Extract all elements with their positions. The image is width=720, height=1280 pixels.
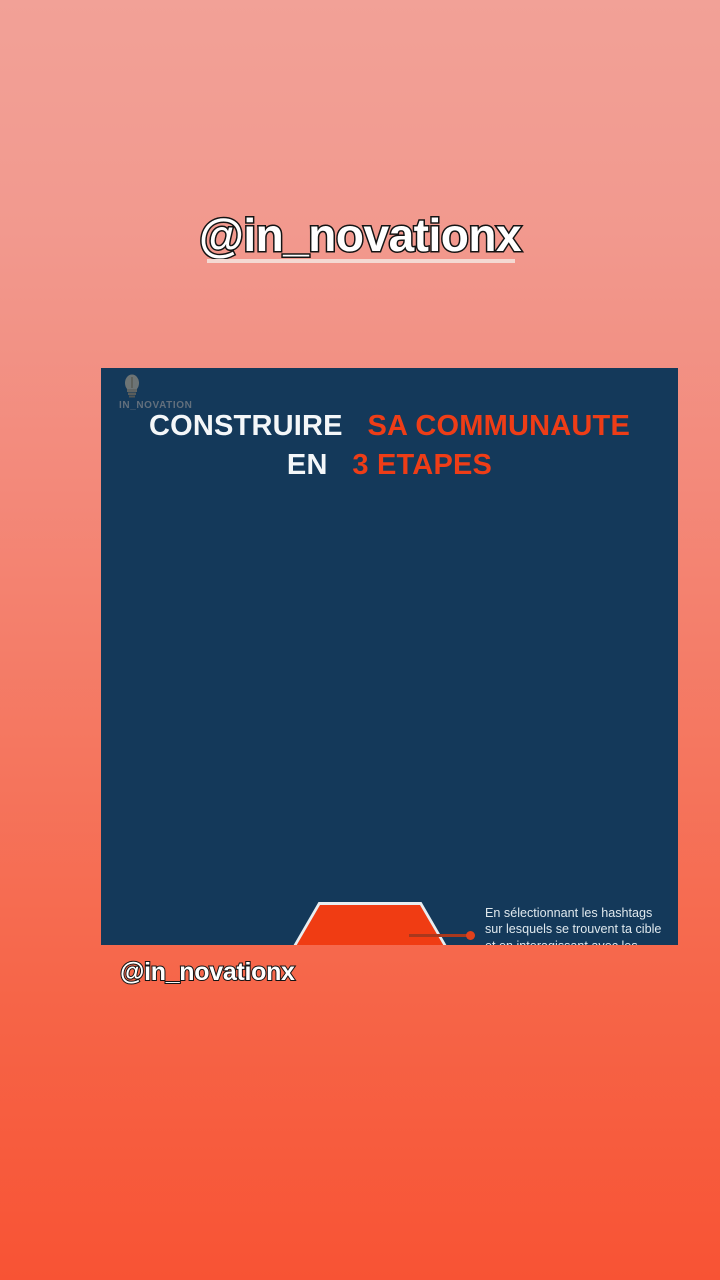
title-line-1: CONSTRUIRE SA COMMUNAUTE [101,408,678,445]
lightbulb-icon [123,374,141,400]
screen-root: @in_novationx IN_NOVATION CONSTRUIRE SA … [0,0,720,1280]
top-watermark-text: @in_novationx [199,209,521,261]
connector-dot-1 [466,931,475,940]
top-watermark-underline [207,259,515,263]
title-sa-communaute: SA COMMUNAUTE [368,410,631,442]
infographic-card: IN_NOVATION CONSTRUIRE SA COMMUNAUTE EN … [101,368,678,945]
title-3-etapes: 3 ETAPES [352,449,492,481]
bottom-watermark-handle: @in_novationx [120,958,295,987]
title-construire: CONSTRUIRE [149,410,343,442]
annotation-step-1: En sélectionnant les hashtags sur lesque… [485,905,678,945]
title-line-2: EN 3 ETAPES [101,447,678,484]
top-watermark-handle: @in_novationx [0,210,720,265]
title-en: EN [287,449,328,481]
connector-line-1 [409,934,471,937]
card-title: CONSTRUIRE SA COMMUNAUTE EN 3 ETAPES [101,408,678,484]
